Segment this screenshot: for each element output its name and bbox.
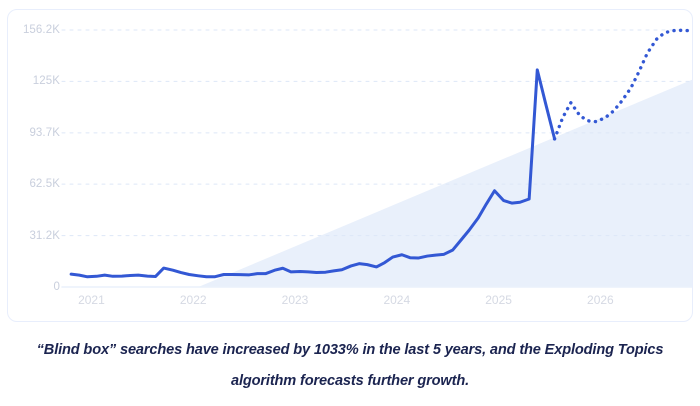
chart-card: 156.2K125K93.7K62.5K31.2K0 2021202220232… xyxy=(7,9,693,322)
trend-line-chart xyxy=(8,10,693,322)
screenshot-root: 156.2K125K93.7K62.5K31.2K0 2021202220232… xyxy=(0,0,700,406)
caption-line-2: algorithm forecasts further growth. xyxy=(0,366,700,397)
growth-wedge xyxy=(198,80,692,287)
caption-line-1: “Blind box” searches have increased by 1… xyxy=(0,335,700,366)
chart-plot-area: 156.2K125K93.7K62.5K31.2K0 2021202220232… xyxy=(8,10,692,321)
chart-caption: “Blind box” searches have increased by 1… xyxy=(0,335,700,397)
